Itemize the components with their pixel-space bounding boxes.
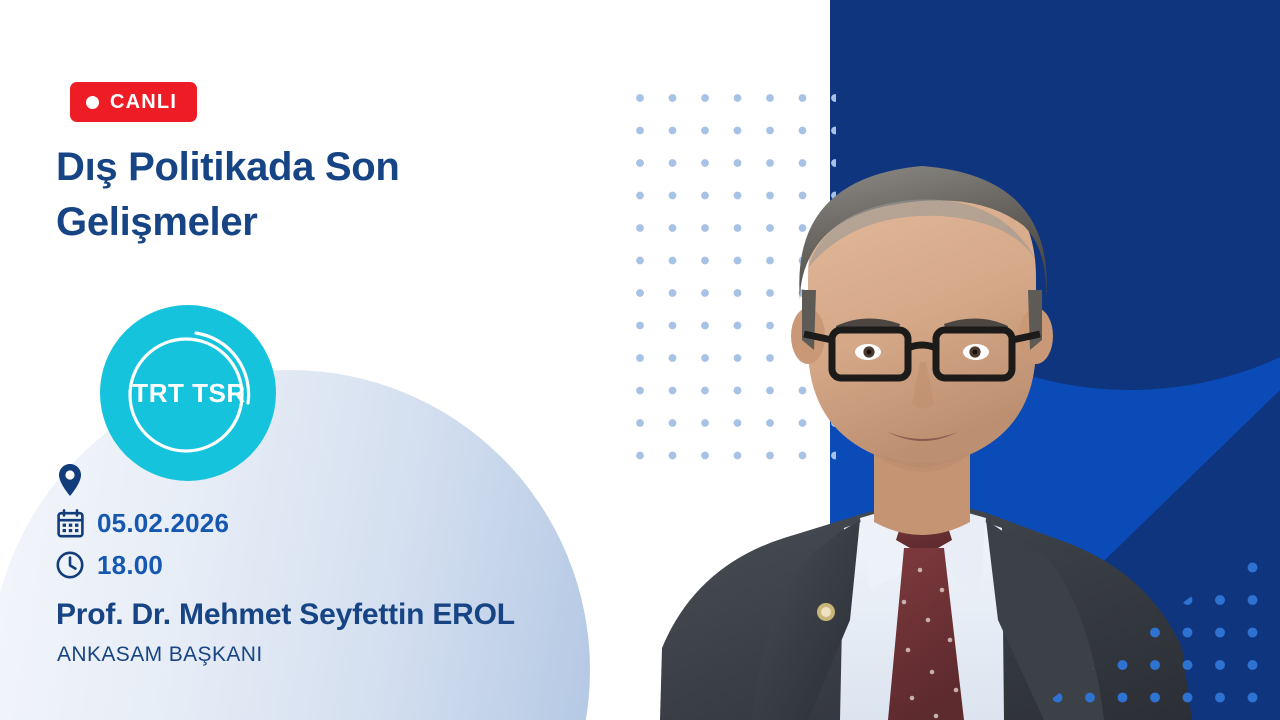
clock-icon bbox=[56, 550, 84, 580]
live-badge[interactable]: CANLI bbox=[70, 82, 197, 122]
meta-row-date: 05.02.2026 bbox=[56, 502, 616, 544]
speaker-role: ANKASAM BAŞKANI bbox=[57, 643, 263, 667]
calendar-icon bbox=[56, 508, 84, 538]
speaker-name: Prof. Dr. Mehmet Seyfettin EROL bbox=[56, 598, 515, 632]
live-dot-icon bbox=[86, 96, 99, 109]
location-pin-icon bbox=[56, 465, 84, 495]
live-badge-label: CANLI bbox=[110, 92, 177, 112]
page-title-line1: Dış Politikada Son bbox=[56, 145, 400, 189]
event-meta: 05.02.2026 18.00 bbox=[56, 458, 616, 586]
page-title-line2: Gelişmeler bbox=[56, 200, 258, 244]
page-title: Dış Politikada Son Gelişmeler bbox=[56, 140, 526, 250]
content-layer: CANLI Dış Politikada Son Gelişmeler TRT … bbox=[0, 0, 830, 720]
logo-text: TRT TSR bbox=[100, 305, 276, 481]
trt-tsr-logo[interactable]: TRT TSR bbox=[100, 305, 276, 481]
time-value: 18.00 bbox=[97, 550, 163, 581]
event-banner: CANLI Dış Politikada Son Gelişmeler TRT … bbox=[0, 0, 1280, 720]
meta-row-location bbox=[56, 458, 616, 502]
date-value: 05.02.2026 bbox=[97, 508, 229, 539]
meta-row-time: 18.00 bbox=[56, 544, 616, 586]
